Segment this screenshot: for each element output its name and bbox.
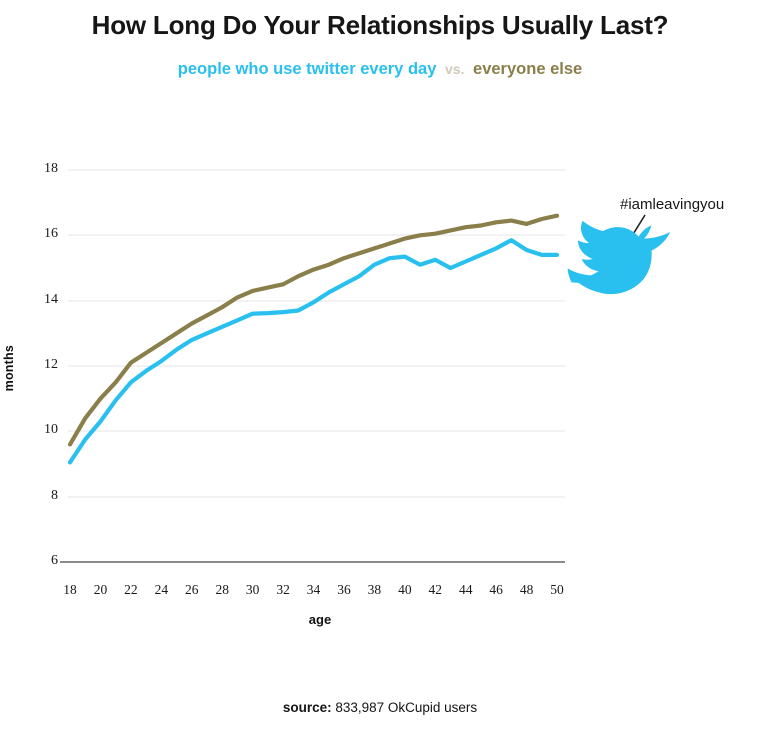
x-tick-40: 40 (390, 582, 420, 598)
series-twitter-line (70, 240, 557, 462)
y-tick-8: 8 (20, 488, 58, 504)
x-tick-30: 30 (238, 582, 268, 598)
x-tick-28: 28 (207, 582, 237, 598)
x-tick-38: 38 (359, 582, 389, 598)
x-tick-42: 42 (420, 582, 450, 598)
source-note: source: 833,987 OkCupid users (0, 700, 760, 715)
x-tick-24: 24 (146, 582, 176, 598)
x-tick-32: 32 (268, 582, 298, 598)
x-tick-36: 36 (329, 582, 359, 598)
x-tick-26: 26 (177, 582, 207, 598)
y-tick-6: 6 (20, 553, 58, 569)
plot-area: months age 681012141618 1820222426283032… (0, 0, 760, 752)
x-tick-48: 48 (512, 582, 542, 598)
series-lines (70, 216, 557, 463)
y-tick-14: 14 (20, 292, 58, 308)
x-tick-44: 44 (451, 582, 481, 598)
gridlines (68, 170, 565, 497)
twitter-bird-icon (562, 218, 674, 300)
y-tick-16: 16 (20, 226, 58, 242)
x-tick-34: 34 (299, 582, 329, 598)
y-axis-label: months (2, 345, 22, 391)
x-axis-label: age (0, 612, 640, 627)
line-chart-svg (0, 0, 760, 752)
annotation-text: #iamleavingyou (620, 196, 724, 213)
y-tick-12: 12 (20, 357, 58, 373)
x-tick-50: 50 (542, 582, 572, 598)
x-tick-18: 18 (55, 582, 85, 598)
source-prefix: source: (283, 700, 332, 715)
x-tick-20: 20 (85, 582, 115, 598)
y-tick-10: 10 (20, 422, 58, 438)
y-tick-18: 18 (20, 161, 58, 177)
x-tick-22: 22 (116, 582, 146, 598)
x-tick-46: 46 (481, 582, 511, 598)
source-text: 833,987 OkCupid users (332, 700, 478, 715)
chart-page: How Long Do Your Relationships Usually L… (0, 0, 760, 752)
series-everyone-else-line (70, 216, 557, 445)
